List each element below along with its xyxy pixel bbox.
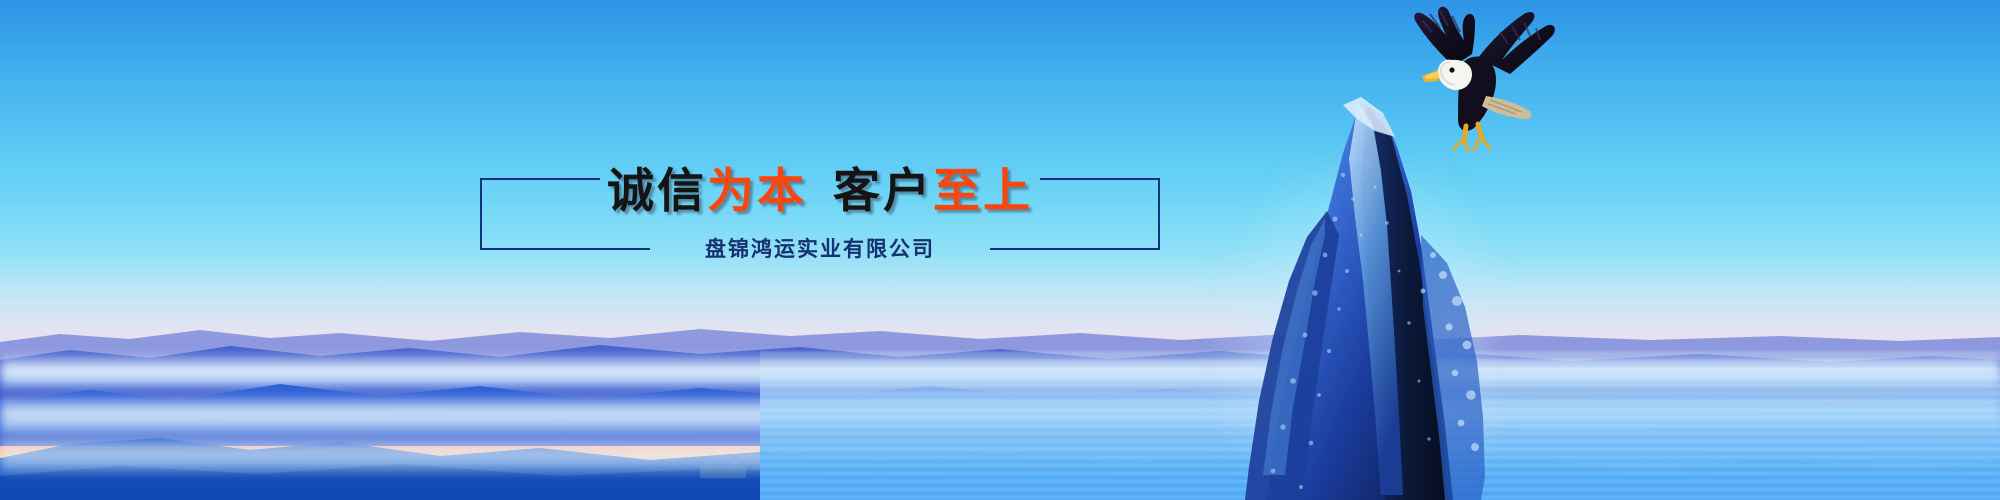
slogan-text: 诚信为本客户至上 bbox=[480, 152, 1160, 221]
slogan-part2-dark: 客户 bbox=[833, 164, 933, 219]
company-name: 盘锦鸿运实业有限公司 bbox=[480, 233, 1160, 263]
hero-banner: 诚信为本客户至上 盘锦鸿运实业有限公司 bbox=[0, 0, 2000, 500]
slogan-part1-dark: 诚信 bbox=[607, 164, 707, 219]
slogan-part1-accent: 为本 bbox=[707, 164, 807, 219]
company-name-text: 盘锦鸿运实业有限公司 bbox=[693, 237, 947, 261]
slogan-block: 诚信为本客户至上 盘锦鸿运实业有限公司 bbox=[480, 160, 1160, 265]
slogan-part2-accent: 至上 bbox=[933, 164, 1033, 219]
bald-eagle bbox=[1382, 2, 1602, 162]
